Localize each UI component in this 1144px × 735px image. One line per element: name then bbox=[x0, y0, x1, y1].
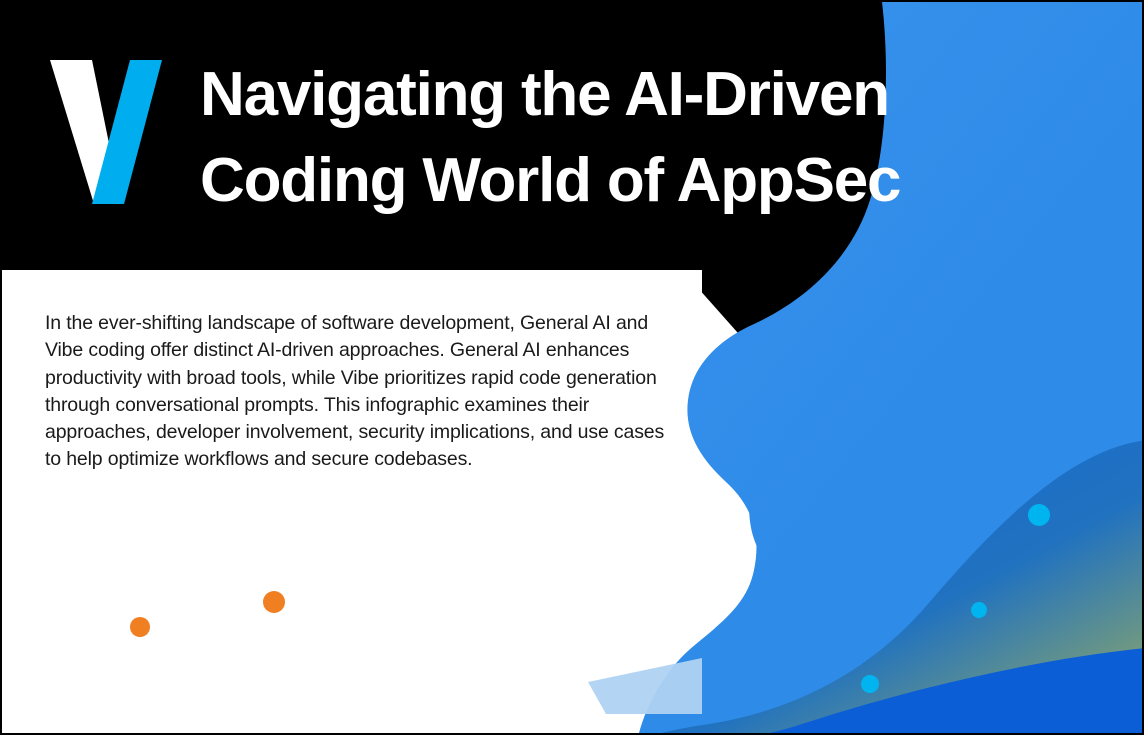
cyan-dot-icon bbox=[1028, 504, 1050, 526]
cyan-dot-icon bbox=[971, 602, 987, 618]
veracode-v-logo-icon bbox=[46, 56, 166, 206]
orange-dot-icon bbox=[130, 617, 150, 637]
intro-paragraph: In the ever-shifting landscape of softwa… bbox=[45, 310, 670, 474]
cyan-dot-icon bbox=[861, 675, 879, 693]
orange-dot-icon bbox=[263, 591, 285, 613]
page-title-line-2: Coding World of AppSec bbox=[200, 138, 1060, 224]
page-title-line-1: Navigating the AI-Driven bbox=[200, 52, 1060, 138]
infographic-page: Navigating the AI-Driven Coding World of… bbox=[0, 0, 1144, 735]
page-title: Navigating the AI-Driven Coding World of… bbox=[200, 52, 1060, 224]
